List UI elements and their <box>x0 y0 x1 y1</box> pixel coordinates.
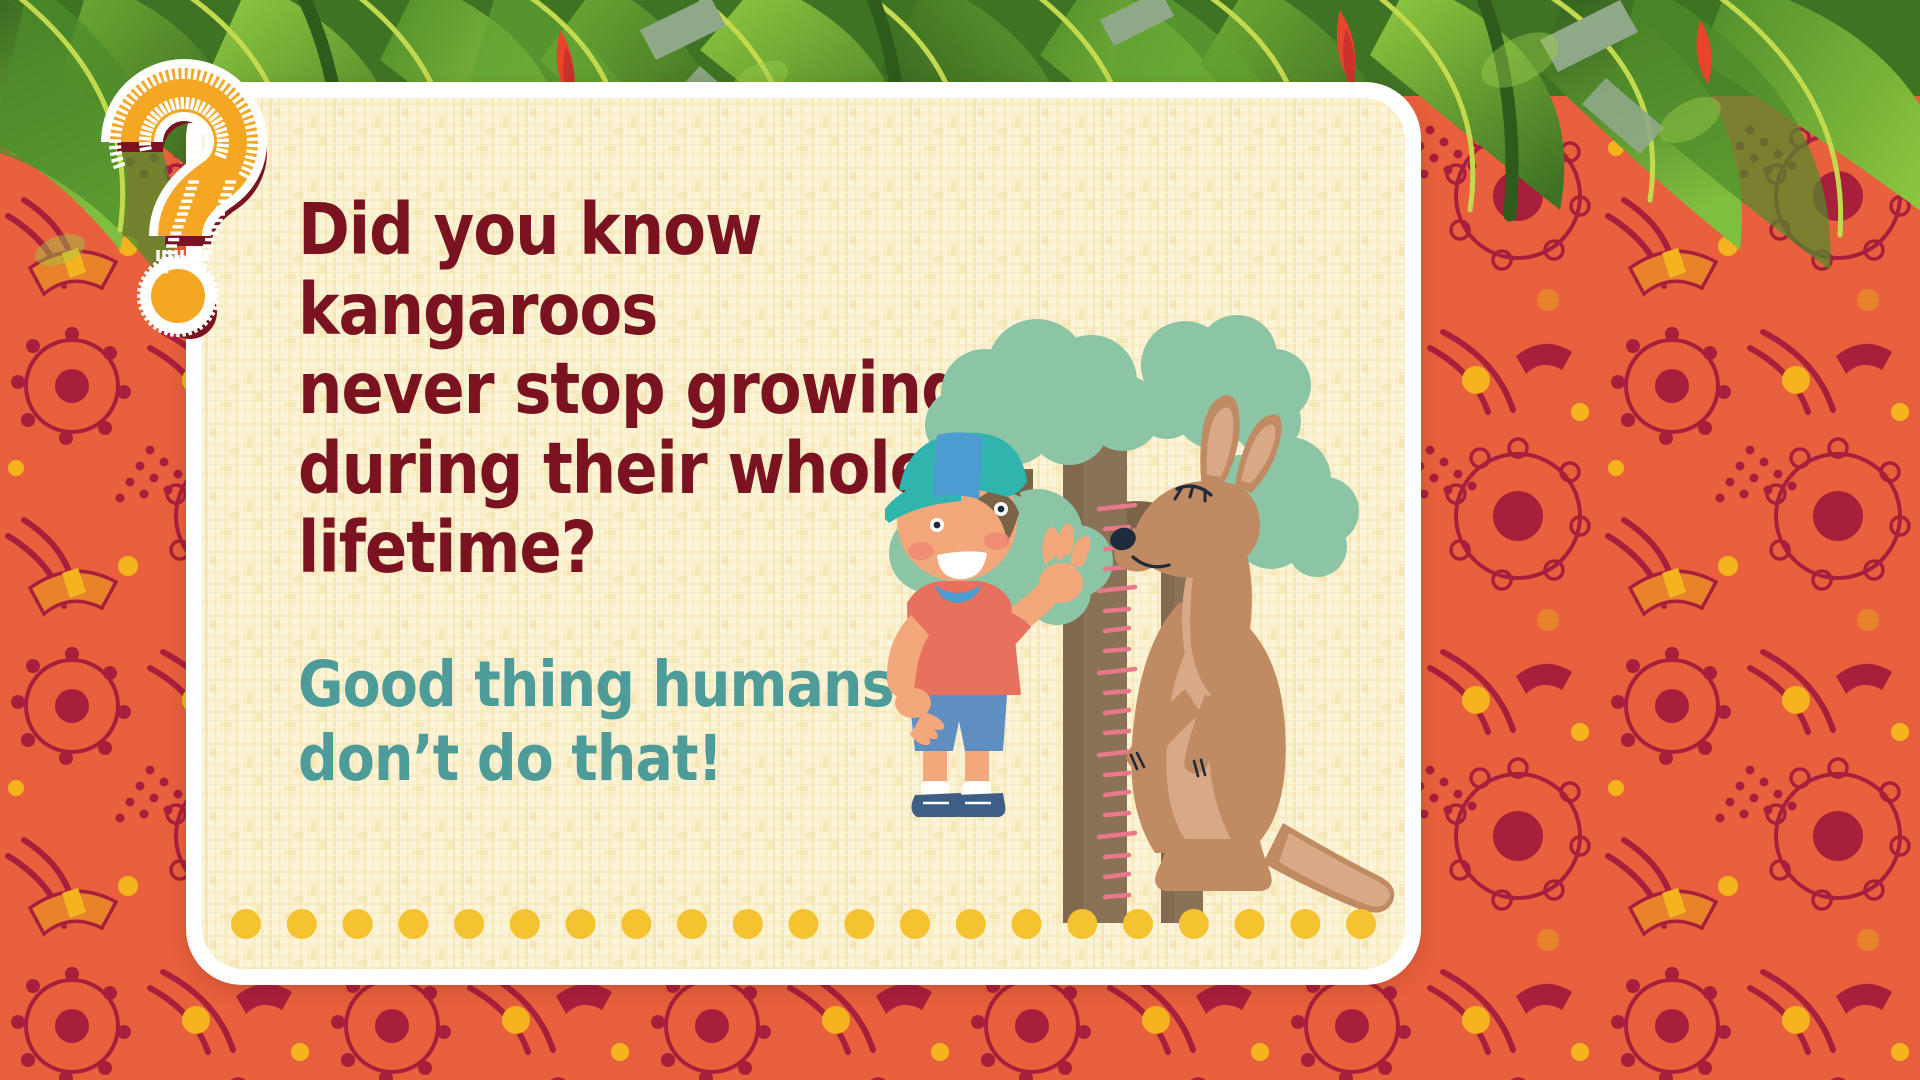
border-dot <box>789 909 819 939</box>
border-dot <box>677 909 707 939</box>
border-dot <box>621 909 651 939</box>
border-dot <box>844 909 874 939</box>
border-dot <box>1290 909 1320 939</box>
illustration-scene <box>885 303 1405 923</box>
scene-art <box>885 303 1405 923</box>
border-dot <box>1235 909 1265 939</box>
fact-card: Did you know kangaroos never stop growin… <box>186 82 1421 985</box>
border-dot <box>1067 909 1097 939</box>
poster-canvas: Did you know kangaroos never stop growin… <box>0 0 1920 1080</box>
question-mark-badge <box>86 56 316 346</box>
dot-border <box>202 901 1405 947</box>
border-dot <box>1012 909 1042 939</box>
border-dot <box>1346 909 1376 939</box>
border-dot <box>231 909 261 939</box>
border-dot <box>956 909 986 939</box>
border-dot <box>733 909 763 939</box>
border-dot <box>454 909 484 939</box>
border-dot <box>343 909 373 939</box>
border-dot <box>287 909 317 939</box>
border-dot <box>398 909 428 939</box>
question-mark-icon <box>86 56 316 346</box>
kangaroo-icon <box>1107 395 1394 912</box>
dot-border-art <box>202 901 1405 947</box>
border-dot <box>1179 909 1209 939</box>
fact-card-inner: Did you know kangaroos never stop growin… <box>202 98 1405 969</box>
border-dot <box>900 909 930 939</box>
border-dot <box>566 909 596 939</box>
border-dot <box>1123 909 1153 939</box>
border-dot <box>510 909 540 939</box>
